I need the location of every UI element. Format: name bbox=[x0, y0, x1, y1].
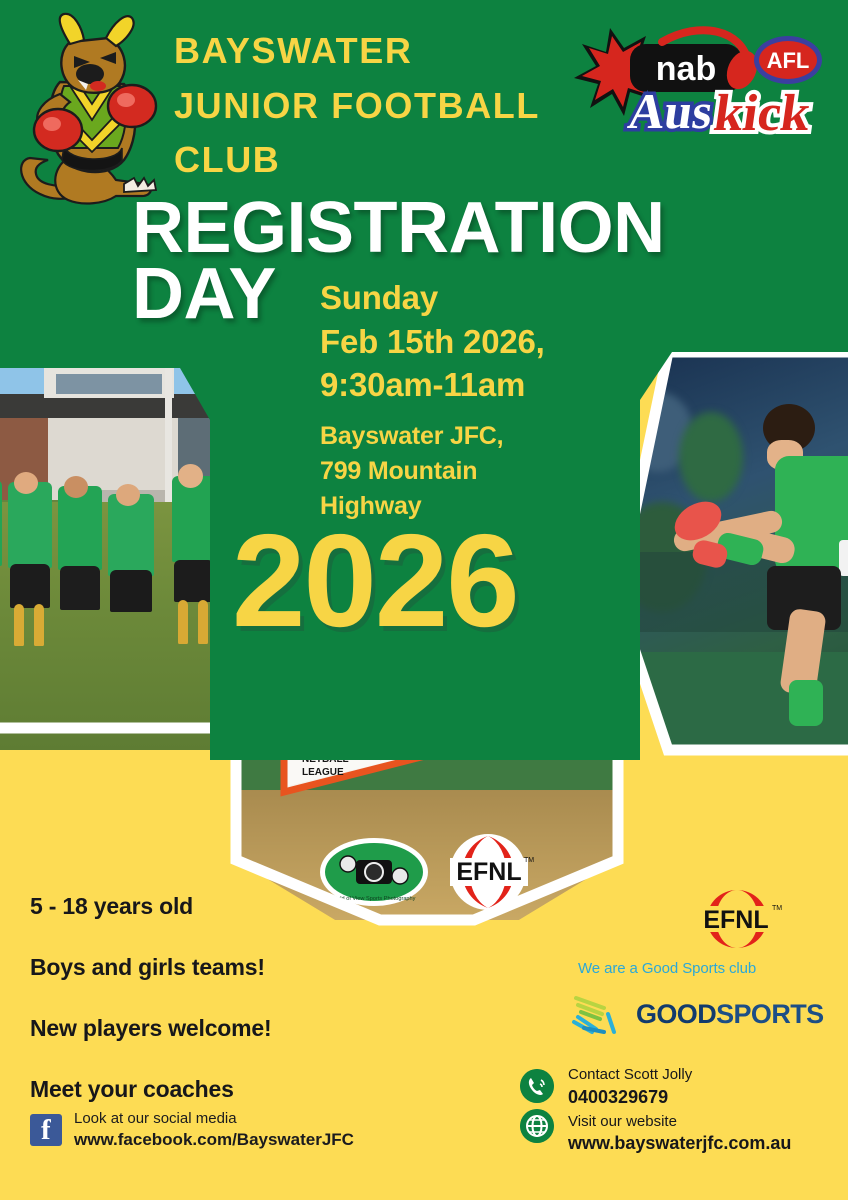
globe-icon[interactable] bbox=[520, 1109, 554, 1143]
phone-label: Contact Scott Jolly bbox=[568, 1065, 791, 1085]
efnl-logo: EFNL TM bbox=[688, 888, 786, 950]
social-media-row[interactable]: Look at our social media www.facebook.co… bbox=[30, 1110, 354, 1150]
club-name: BAYSWATER JUNIOR FOOTBALL CLUB bbox=[174, 24, 574, 188]
feature-item-new-players: New players welcome! bbox=[30, 1015, 271, 1042]
feature-item-coaches: Meet your coaches bbox=[30, 1076, 271, 1103]
nab-afl-auskick-logo: nab AFL Aus Aus kick kick bbox=[570, 18, 832, 140]
club-name-line-2: JUNIOR FOOTBALL bbox=[174, 79, 574, 134]
website-label: Visit our website bbox=[568, 1112, 791, 1132]
goodsports-mark-icon bbox=[570, 992, 626, 1036]
svg-text:kick: kick bbox=[711, 84, 814, 140]
venue-line-3: Highway bbox=[320, 489, 545, 524]
venue-line-2: 799 Mountain bbox=[320, 454, 545, 489]
website-url[interactable]: www.bayswaterjfc.com.au bbox=[568, 1131, 791, 1155]
feature-item-age: 5 - 18 years old bbox=[30, 893, 271, 920]
year-headline: 2026 bbox=[232, 515, 518, 647]
goodsports-tagline: We are a Good Sports club bbox=[578, 960, 756, 977]
efnl-tm: TM bbox=[772, 905, 782, 912]
efnl-text: EFNL bbox=[703, 906, 768, 934]
club-name-line-1: BAYSWATER bbox=[174, 24, 574, 79]
goodsports-wordmark: GOODSPORTS bbox=[636, 999, 824, 1030]
svg-text:Aus: Aus bbox=[625, 83, 716, 139]
event-day: Sunday bbox=[320, 276, 545, 320]
venue-line-1: Bayswater JFC, bbox=[320, 419, 545, 454]
goodsports-logo: GOODSPORTS bbox=[570, 992, 824, 1036]
event-date: Feb 15th 2026, bbox=[320, 320, 545, 364]
club-name-line-3: CLUB bbox=[174, 133, 574, 188]
event-time: 9:30am-11am bbox=[320, 363, 545, 407]
afl-text: AFL bbox=[767, 48, 810, 73]
kangaroo-mascot-icon bbox=[12, 8, 172, 208]
event-details: Sunday Feb 15th 2026, 9:30am-11am Bayswa… bbox=[320, 276, 545, 524]
feature-item-teams: Boys and girls teams! bbox=[30, 954, 271, 981]
phone-number[interactable]: 0400329679 bbox=[568, 1085, 791, 1109]
registration-poster: EFNL EASTERN FOOTBALL NETBALL LEAGUE UND… bbox=[0, 0, 848, 1200]
contact-block: Contact Scott Jolly 0400329679 Visit our… bbox=[520, 1065, 791, 1159]
phone-icon[interactable] bbox=[520, 1069, 554, 1103]
photo-player-kicking bbox=[617, 352, 848, 750]
feature-list: 5 - 18 years old Boys and girls teams! N… bbox=[30, 893, 271, 1137]
social-label: Look at our social media bbox=[74, 1110, 354, 1129]
goodsports-bold: GOOD bbox=[636, 999, 716, 1029]
facebook-icon[interactable] bbox=[30, 1114, 62, 1146]
facebook-url[interactable]: www.facebook.com/BayswaterJFC bbox=[74, 1129, 354, 1150]
goodsports-light: SPORTS bbox=[716, 999, 823, 1029]
